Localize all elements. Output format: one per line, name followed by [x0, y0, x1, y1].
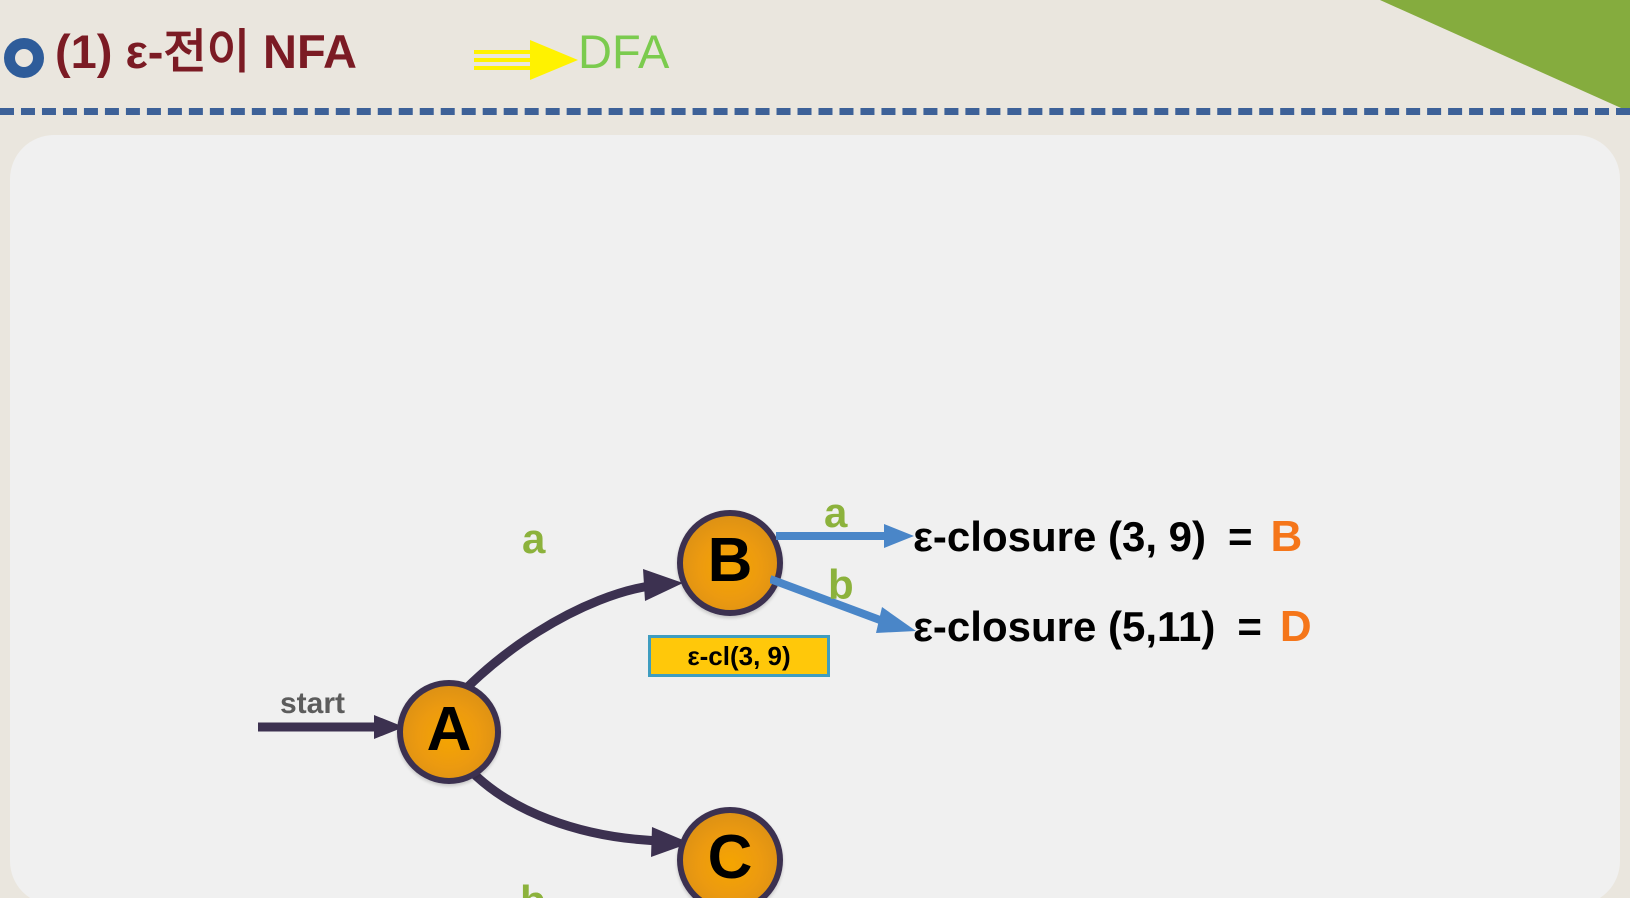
state-label-b: B: [708, 530, 753, 592]
result-equals: =: [1228, 513, 1253, 561]
title-target-dfa: DFA: [578, 22, 669, 82]
start-arrow-icon: [258, 711, 408, 743]
result-symbol-a: a: [824, 492, 847, 534]
state-label-a: A: [427, 699, 472, 761]
result-row: ε-closure (5,11) = D: [913, 603, 1312, 651]
header-divider: [0, 108, 1630, 115]
content-panel: start a b A B C ε-cl(3, 9) ε-cl(5): [10, 135, 1620, 898]
corner-triangle-decoration: [1380, 0, 1630, 112]
slide-header: (1) ε-전이 NFA DFA: [0, 0, 1630, 112]
result-row: ε-closure (3, 9) = B: [913, 513, 1302, 561]
transition-symbol-b: b: [520, 880, 546, 898]
result-state: B: [1271, 513, 1303, 561]
result-state: D: [1280, 603, 1312, 651]
closure-chip-b: ε-cl(3, 9): [648, 635, 830, 677]
result-expression: ε-closure (5,11): [913, 603, 1215, 651]
state-label-c: C: [708, 827, 753, 889]
result-expression: ε-closure (3, 9): [913, 513, 1206, 561]
slide-root: (1) ε-전이 NFA DFA start a b: [0, 0, 1630, 898]
page-title: (1) ε-전이 NFA: [55, 22, 357, 82]
state-node-b[interactable]: B: [677, 510, 783, 616]
result-equals: =: [1237, 603, 1262, 651]
transition-symbol-a: a: [522, 518, 545, 560]
state-node-a[interactable]: A: [397, 680, 501, 784]
state-node-c[interactable]: C: [677, 807, 783, 898]
ring-bullet-icon: [4, 38, 44, 78]
double-line-arrow-icon: [474, 36, 584, 84]
result-symbol-b: b: [828, 564, 854, 606]
